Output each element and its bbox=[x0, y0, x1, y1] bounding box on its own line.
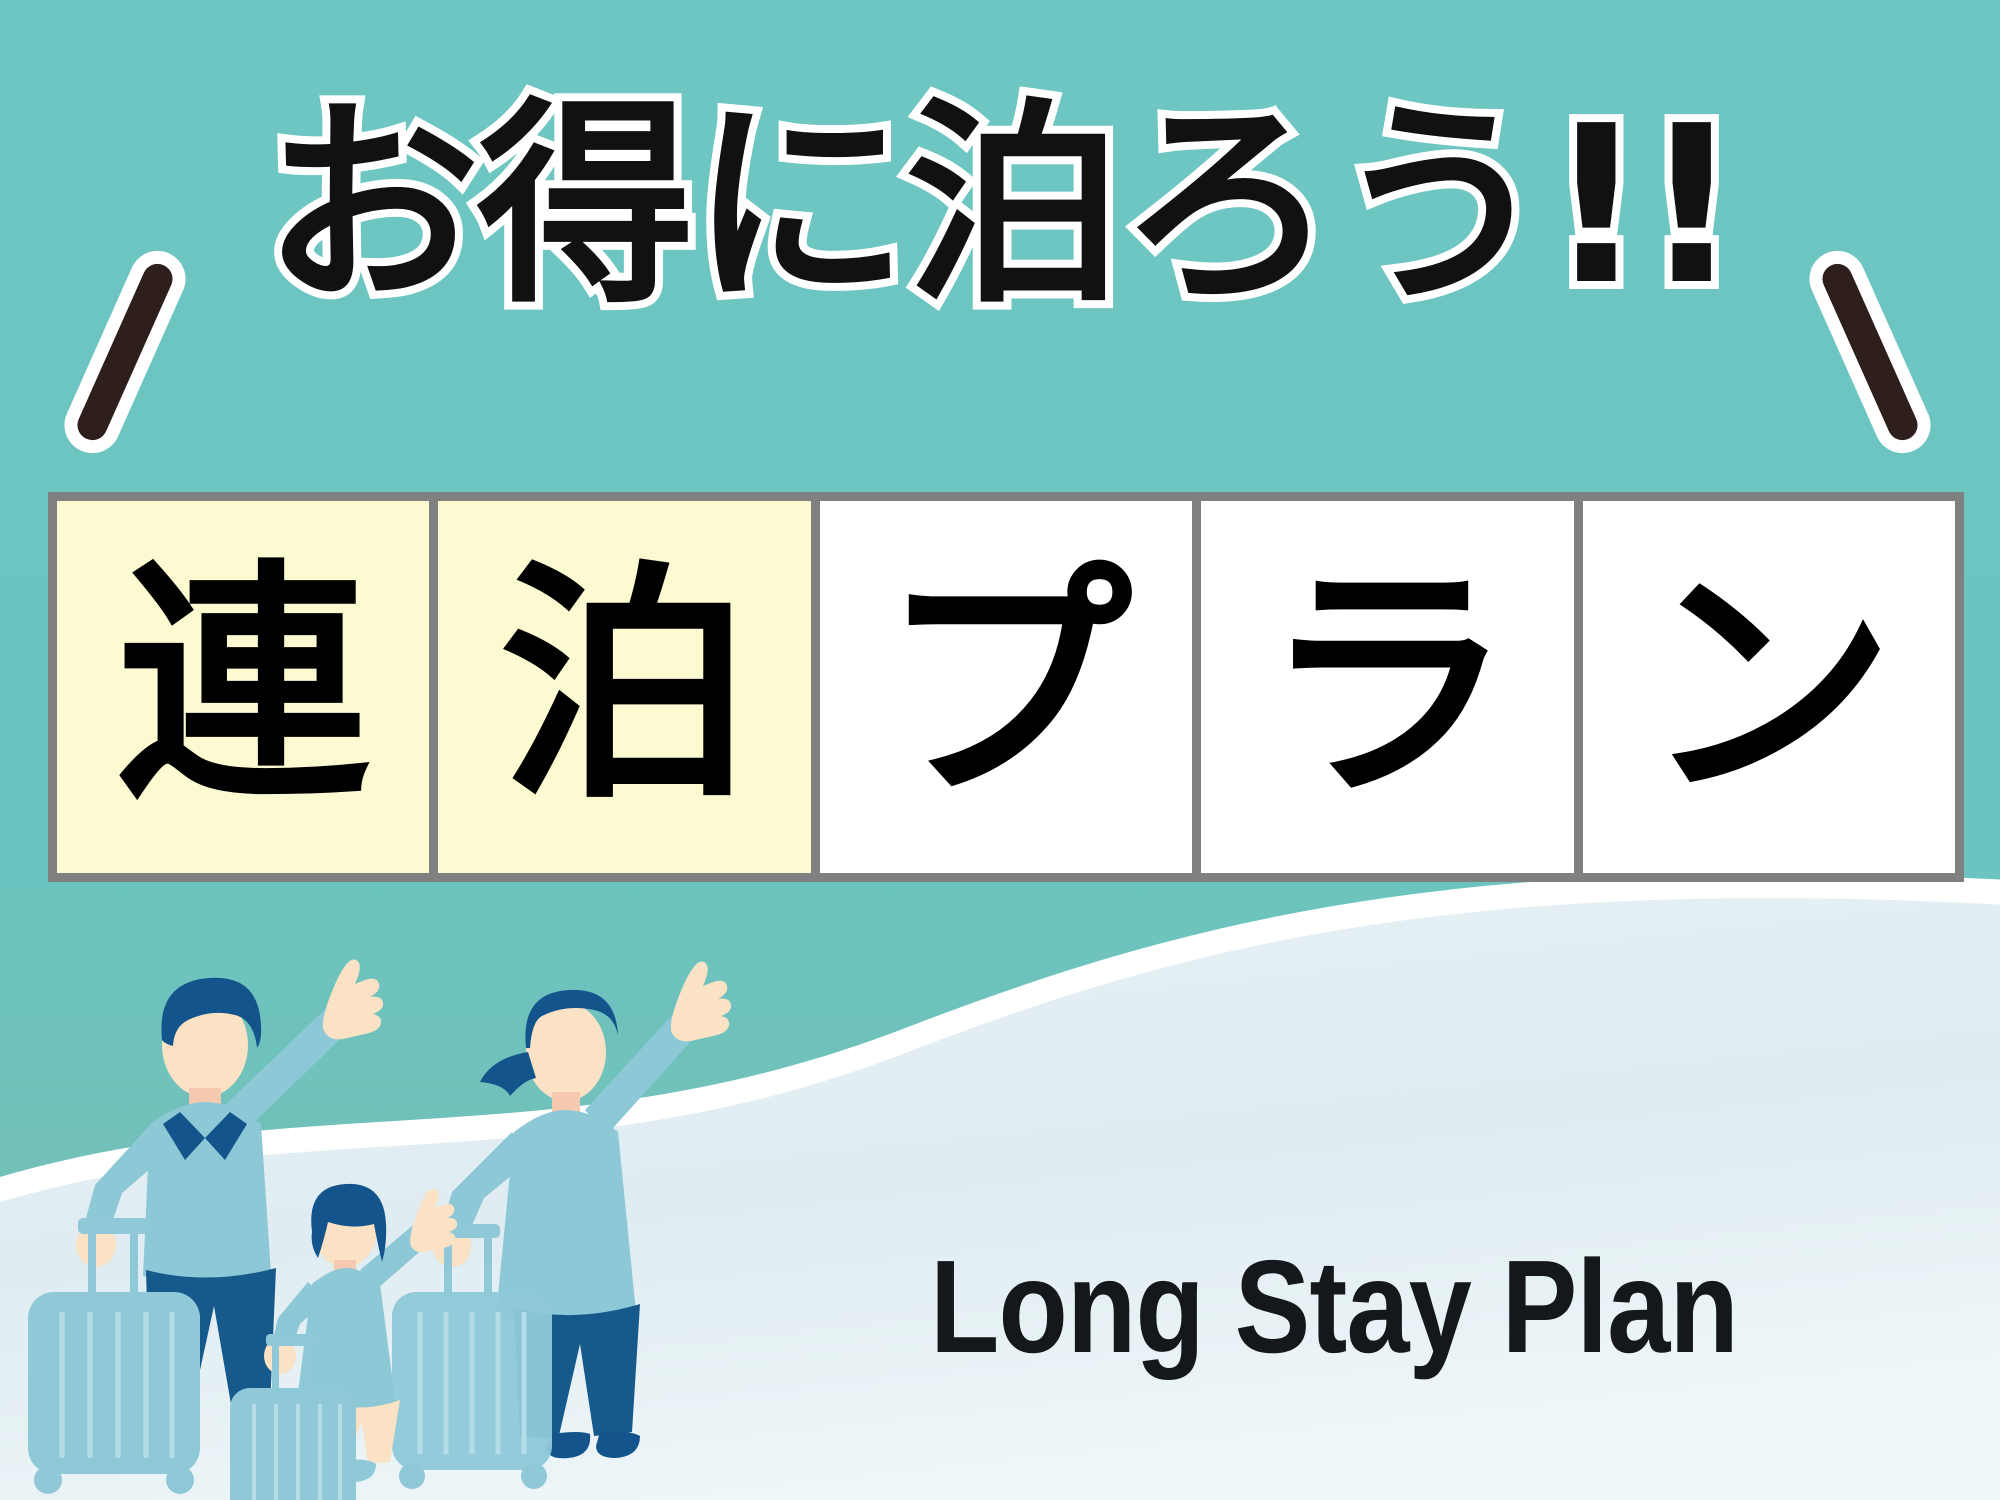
plan-char-box-2: 泊 bbox=[438, 501, 810, 873]
english-caption: Long Stay Plan bbox=[930, 1232, 1799, 1382]
plan-char-box-5: ン bbox=[1583, 501, 1955, 873]
plan-char-box-4: ラ bbox=[1201, 501, 1573, 873]
headline-row: お得に泊ろう!! bbox=[0, 72, 2000, 372]
family-illustration bbox=[0, 940, 760, 1500]
plan-word-frame: 連 泊 プ ラ ン bbox=[48, 492, 1964, 882]
promo-banner: お得に泊ろう!! 連 泊 プ ラ ン Long Stay Plan bbox=[0, 0, 2000, 1500]
plan-char-box-3: プ bbox=[820, 501, 1192, 873]
page-title: お得に泊ろう!! bbox=[0, 72, 2000, 342]
plan-char-box-1: 連 bbox=[57, 501, 429, 873]
